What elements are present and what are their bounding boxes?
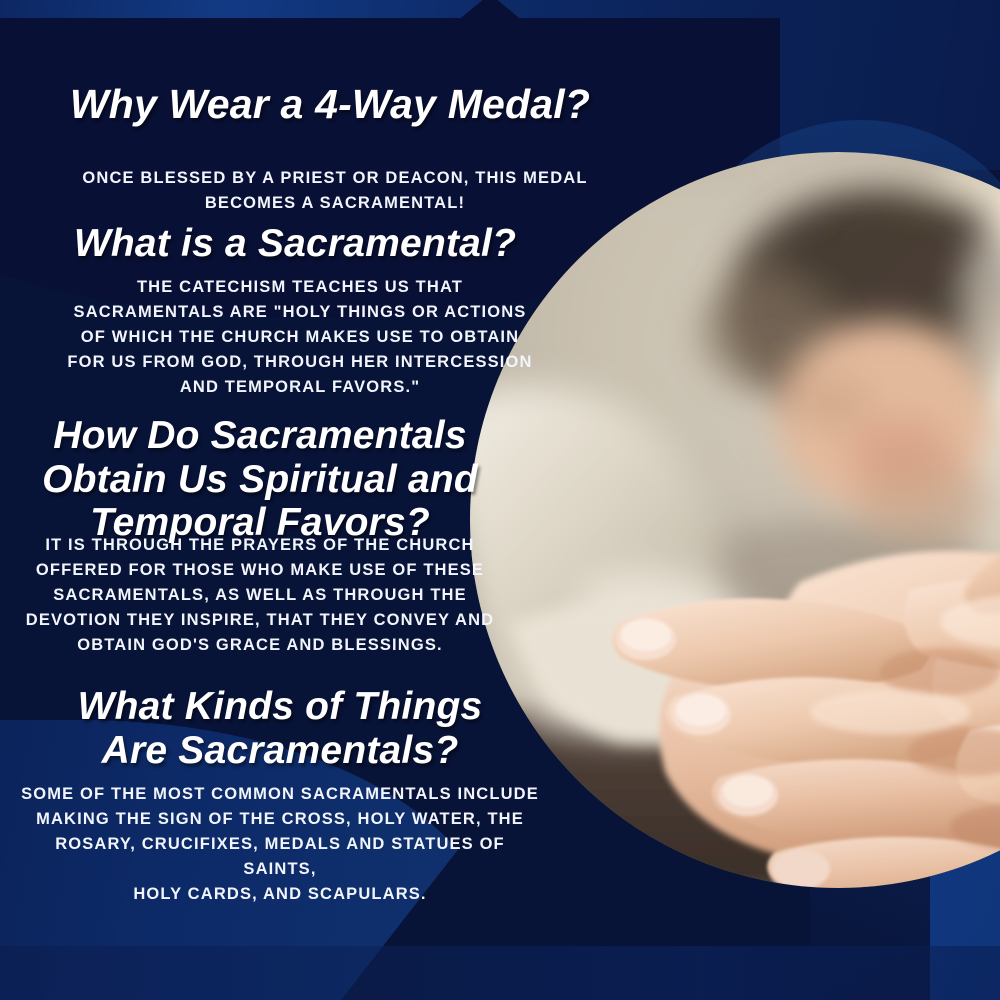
body-line: MAKING THE SIGN OF THE CROSS, HOLY WATER… [20,807,540,832]
heading-text: How Do Sacramentals Obtain Us Spiritual … [0,414,520,545]
section-what-kinds-of-things-heading: What Kinds of Things Are Sacramentals? [0,685,560,772]
page-title-text: Why Wear a 4-Way Medal? [0,82,660,128]
body-line: SOME OF THE MOST COMMON SACRAMENTALS INC… [20,782,540,807]
body-line: BECOMES A SACRAMENTAL! [40,191,630,216]
body-text: THE CATECHISM TEACHES US THAT SACRAMENTA… [30,275,570,400]
section-intro-body: ONCE BLESSED BY A PRIEST OR DEACON, THIS… [40,166,630,216]
body-line: SACRAMENTALS ARE "HOLY THINGS OR ACTIONS [30,300,570,325]
heading-text: What is a Sacramental? [0,222,590,266]
section-what-kinds-of-things-body: SOME OF THE MOST COMMON SACRAMENTALS INC… [20,782,540,907]
body-line: AND TEMPORAL FAVORS." [30,375,570,400]
body-line: DEVOTION THEY INSPIRE, THAT THEY CONVEY … [10,608,510,633]
intro-body-text: ONCE BLESSED BY A PRIEST OR DEACON, THIS… [40,166,630,216]
body-line: FOR US FROM GOD, THROUGH HER INTERCESSIO… [30,350,570,375]
section-how-do-sacramentals-heading: How Do Sacramentals Obtain Us Spiritual … [0,414,520,545]
body-line: HOLY CARDS, AND SCAPULARS. [20,882,540,907]
body-line: ONCE BLESSED BY A PRIEST OR DEACON, THIS… [40,166,630,191]
body-line: OBTAIN GOD'S GRACE AND BLESSINGS. [10,633,510,658]
body-line: ROSARY, CRUCIFIXES, MEDALS AND STATUES O… [20,832,540,882]
body-line: OFFERED FOR THOSE WHO MAKE USE OF THESE [10,558,510,583]
heading-line: What Kinds of Things [0,685,560,729]
poster-canvas: Why Wear a 4-Way Medal? ONCE BLESSED BY … [0,0,1000,1000]
section-what-is-a-sacramental-body: THE CATECHISM TEACHES US THAT SACRAMENTA… [30,275,570,400]
section-how-do-sacramentals-body: IT IS THROUGH THE PRAYERS OF THE CHURCH … [10,533,510,658]
body-line: OF WHICH THE CHURCH MAKES USE TO OBTAIN [30,325,570,350]
body-text: SOME OF THE MOST COMMON SACRAMENTALS INC… [20,782,540,907]
heading-line: How Do Sacramentals [0,414,520,458]
section-what-is-a-sacramental-heading: What is a Sacramental? [0,222,590,266]
body-line: IT IS THROUGH THE PRAYERS OF THE CHURCH [10,533,510,558]
body-line: SACRAMENTALS, AS WELL AS THROUGH THE [10,583,510,608]
page-title: Why Wear a 4-Way Medal? [0,82,660,128]
heading-text: What Kinds of Things Are Sacramentals? [0,685,560,772]
heading-line: What is a Sacramental? [0,222,590,266]
heading-line: Are Sacramentals? [0,729,560,773]
text-column: Why Wear a 4-Way Medal? ONCE BLESSED BY … [0,0,610,1000]
body-line: THE CATECHISM TEACHES US THAT [30,275,570,300]
body-text: IT IS THROUGH THE PRAYERS OF THE CHURCH … [10,533,510,658]
heading-line: Obtain Us Spiritual and [0,458,520,502]
